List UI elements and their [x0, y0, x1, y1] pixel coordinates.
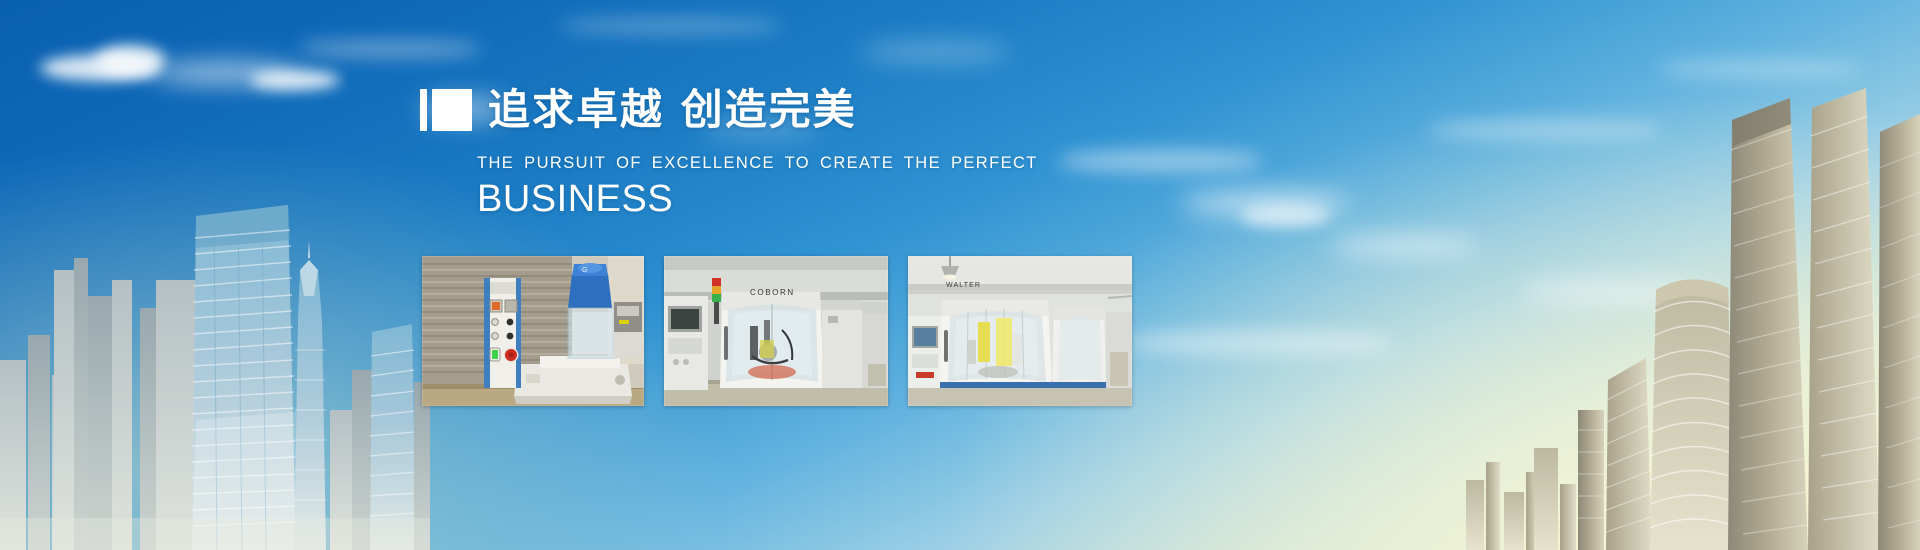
- page-title: 追求卓越 创造完美: [488, 89, 857, 131]
- photo-strip: G: [422, 256, 1132, 406]
- photo-cnc-grinder-control-panel[interactable]: G: [422, 256, 644, 406]
- photo-2-artwork: [664, 256, 888, 406]
- cloud: [1330, 235, 1480, 257]
- logo-bar-shape: [420, 89, 427, 131]
- left-skyline: [0, 120, 430, 550]
- photo-coborn-grinding-machine[interactable]: COBORN: [664, 256, 888, 406]
- cloud: [1130, 330, 1390, 356]
- cloud: [860, 42, 1010, 62]
- business-word: BUSINESS: [477, 179, 1120, 221]
- cloud: [1520, 280, 1710, 304]
- hero-banner: 追求卓越 创造完美 THE PURSUIT OF EXCELLENCE TO C…: [0, 0, 1920, 550]
- logo-square-shape: [432, 89, 472, 131]
- photo-2-brand-label: COBORN: [750, 288, 795, 297]
- cloud: [300, 40, 480, 58]
- right-skyline: [1460, 80, 1920, 550]
- subtitle-english: THE PURSUIT OF EXCELLENCE TO CREATE THE …: [477, 154, 1120, 173]
- cloud: [560, 18, 780, 34]
- photo-walter-tool-grinder[interactable]: WALTER: [908, 256, 1132, 406]
- headline-block: 追求卓越 创造完美 THE PURSUIT OF EXCELLENCE TO C…: [420, 82, 1120, 221]
- cloud: [250, 70, 340, 90]
- cloud: [1240, 205, 1330, 227]
- title-row: 追求卓越 创造完美: [420, 82, 1120, 138]
- photo-3-artwork: [908, 256, 1132, 406]
- logo-mark-icon: [420, 89, 472, 131]
- photo-1-artwork: G: [422, 256, 644, 406]
- cloud: [1660, 60, 1860, 78]
- svg-text:G: G: [582, 267, 587, 274]
- photo-3-brand-label: WALTER: [946, 282, 981, 289]
- cloud: [1430, 120, 1660, 140]
